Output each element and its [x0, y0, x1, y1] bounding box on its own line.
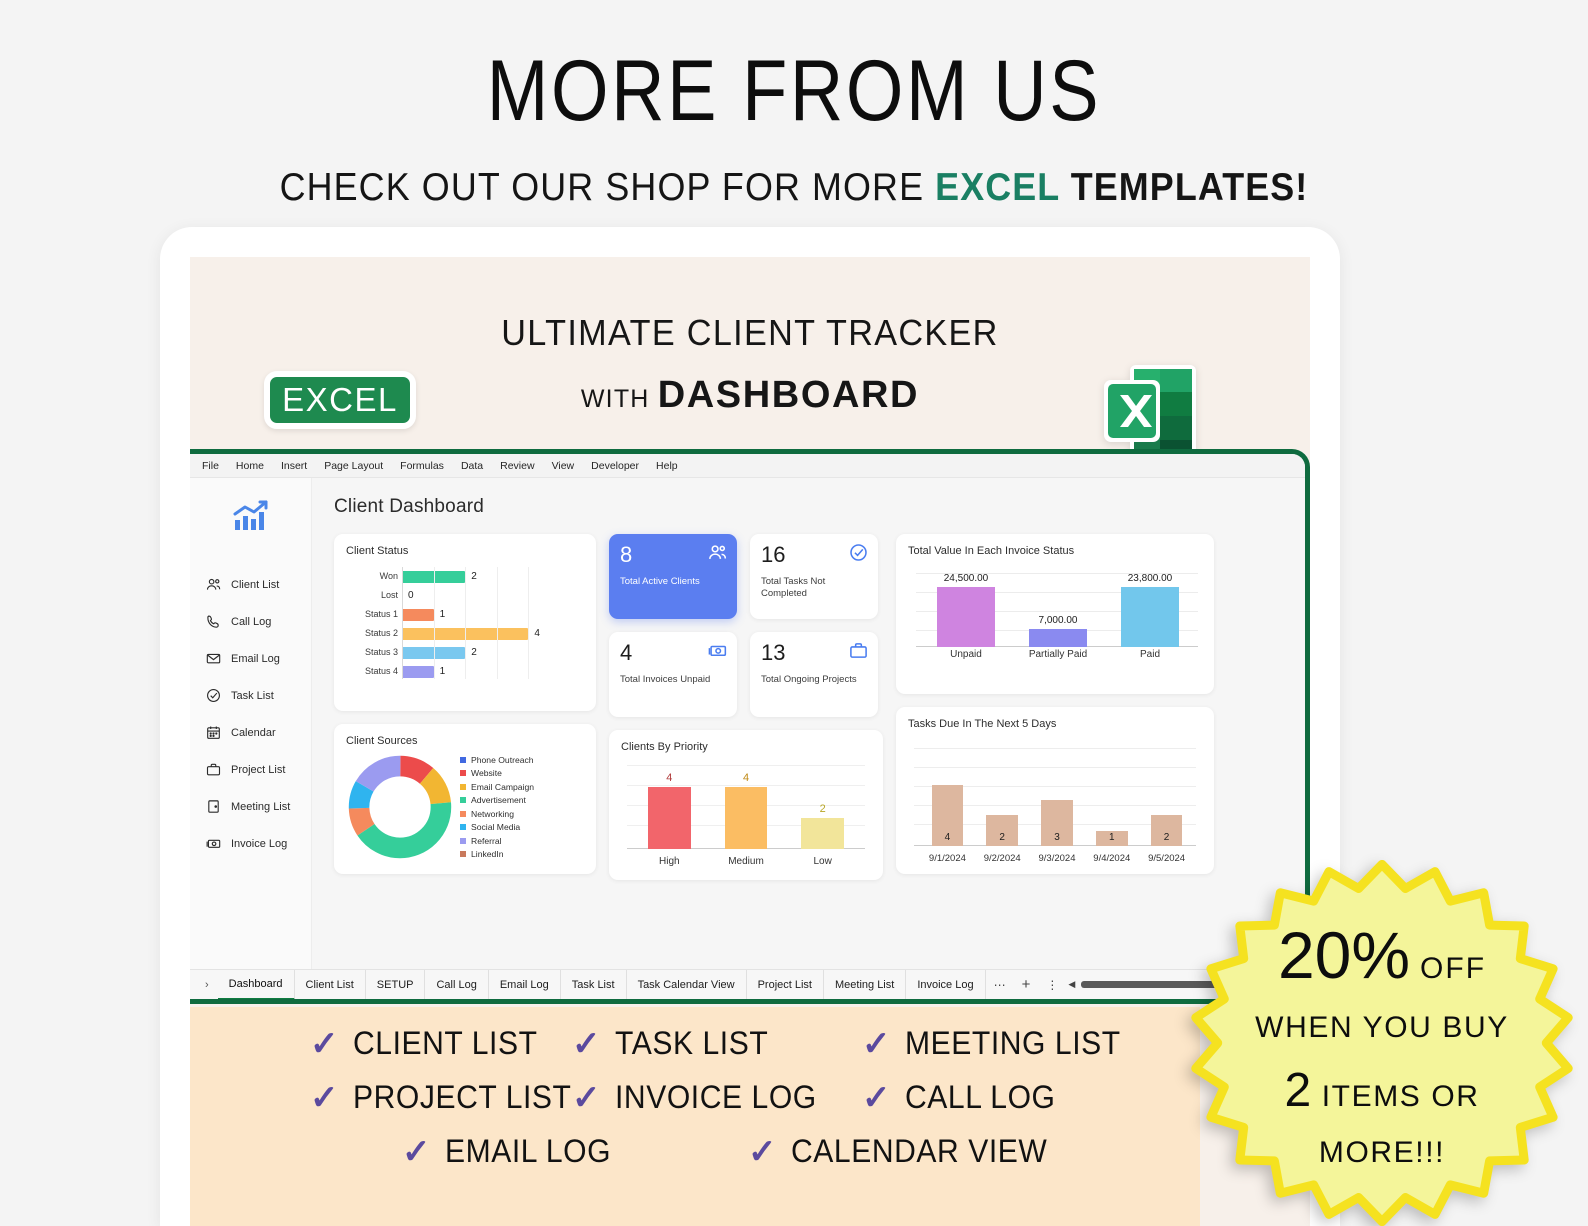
sheet-options-icon[interactable]: ⋮ — [1038, 978, 1066, 992]
task-bar-value: 2 — [1164, 832, 1170, 843]
chevron-right-icon[interactable]: › — [196, 979, 218, 991]
client-sources-chart: Phone OutreachWebsiteEmail CampaignAdver… — [346, 753, 584, 861]
invoice-bar-group: 24,500.00 — [920, 573, 1012, 647]
legend-label: Email Campaign — [471, 782, 534, 792]
legend-label: Website — [471, 768, 502, 778]
calendar-icon — [206, 725, 221, 740]
ribbon-item-developer[interactable]: Developer — [591, 460, 639, 472]
client-status-label: Lost — [346, 590, 398, 600]
tasks-due-chart: 423129/1/20249/2/20249/3/20249/4/20249/5… — [908, 748, 1202, 868]
invoice-status-chart: 24,500.007,000.0023,800.00UnpaidPartiall… — [908, 573, 1202, 665]
feature-meeting-list: ✓ MEETING LIST — [862, 1025, 1134, 1062]
task-bar-value: 3 — [1054, 832, 1060, 843]
dashboard-panel: Client Dashboard Client Status Won2Lost0… — [312, 478, 1305, 987]
task-bar-group: 2 — [975, 815, 1030, 846]
task-bar-label: 9/2/2024 — [975, 853, 1030, 864]
sidebar-item-invoice-log[interactable]: Invoice Log — [190, 825, 311, 862]
feature-task-list: ✓ TASK LIST — [572, 1025, 862, 1062]
invoice-status-card: Total Value In Each Invoice Status 24,50… — [896, 534, 1214, 694]
invoice-bar-group: 7,000.00 — [1012, 573, 1104, 647]
kpi-total-tasks-not-completed[interactable]: 16 Total Tasks Not Completed — [750, 534, 878, 619]
task-bar: 3 — [1041, 800, 1073, 846]
legend-swatch — [460, 824, 466, 830]
legend-swatch — [460, 797, 466, 803]
client-status-value: 1 — [440, 666, 446, 677]
product-title-line1: ULTIMATE CLIENT TRACKER — [218, 312, 1282, 354]
priority-bar-label: Low — [784, 856, 861, 867]
feature-call-log: ✓ CALL LOG — [862, 1079, 1065, 1116]
client-status-row: Won2 — [402, 567, 584, 586]
ribbon-item-data[interactable]: Data — [461, 460, 483, 472]
check-circle-icon — [206, 688, 221, 703]
legend-swatch — [460, 851, 466, 857]
priority-bar-value: 4 — [666, 772, 672, 784]
invoice-bar — [1029, 629, 1086, 648]
sheet-tab-project-list[interactable]: Project List — [747, 970, 824, 1000]
legend-label: Advertisement — [471, 795, 526, 805]
priority-bar-group: 4 — [631, 772, 708, 849]
feature-label: MEETING LIST — [905, 1025, 1121, 1062]
ribbon-item-help[interactable]: Help — [656, 460, 678, 472]
sidebar-label: Task List — [231, 690, 274, 702]
discount-badge — [1184, 860, 1580, 1226]
feature-label: CALL LOG — [905, 1079, 1056, 1116]
task-bar-group: 1 — [1084, 831, 1139, 846]
sheet-tabs: DashboardClient ListSETUPCall LogEmail L… — [218, 970, 986, 1000]
client-status-row: Lost0 — [402, 586, 584, 605]
invoice-bar-value: 23,800.00 — [1128, 573, 1173, 584]
subtitle-pre: CHECK OUT OUR SHOP FOR MORE — [280, 166, 936, 209]
task-bar: 2 — [986, 815, 1018, 846]
subtitle-post: TEMPLATES! — [1060, 166, 1309, 209]
invoice-bar — [937, 587, 994, 647]
money-icon — [206, 836, 221, 851]
client-status-value: 1 — [440, 609, 446, 620]
sidebar-item-call-log[interactable]: Call Log — [190, 603, 311, 640]
priority-bar-label: Medium — [708, 856, 785, 867]
ribbon-item-formulas[interactable]: Formulas — [400, 460, 444, 472]
check-mark-icon: ✓ — [310, 1027, 339, 1061]
scroll-left-icon[interactable]: ◀ — [1066, 979, 1077, 990]
feature-email-log: ✓ EMAIL LOG — [402, 1133, 748, 1170]
podium-icon — [206, 799, 221, 814]
feature-row-2: ✓ PROJECT LIST ✓ INVOICE LOG ✓ CALL LOG — [310, 1079, 1065, 1116]
kpi-label: Total Tasks Not Completed — [761, 576, 867, 600]
check-mark-icon: ✓ — [402, 1135, 431, 1169]
task-bar: 1 — [1096, 831, 1128, 846]
invoice-bar-label: Paid — [1104, 649, 1196, 665]
priority-bar — [801, 818, 844, 849]
sidebar-label: Calendar — [231, 727, 276, 739]
legend-item: LinkedIn — [460, 849, 534, 859]
task-bar-label: 9/1/2024 — [920, 853, 975, 864]
invoice-bar — [1121, 587, 1178, 647]
sheet-tab-task-list[interactable]: Task List — [561, 970, 627, 1000]
priority-bar — [648, 787, 691, 849]
feature-label: CLIENT LIST — [353, 1025, 538, 1062]
feature-row-1: ✓ CLIENT LIST ✓ TASK LIST ✓ MEETING LIST — [310, 1025, 1134, 1062]
feature-label: INVOICE LOG — [615, 1079, 817, 1116]
sheet-tab-dashboard[interactable]: Dashboard — [218, 970, 295, 1000]
sheet-tab-setup[interactable]: SETUP — [366, 970, 426, 1000]
sidebar-item-client-list[interactable]: Client List — [190, 566, 311, 603]
legend-swatch — [460, 811, 466, 817]
client-sources-card: Client Sources Phone OutreachWebsiteEmai… — [334, 724, 596, 874]
task-bar: 2 — [1151, 815, 1183, 846]
sidebar-label: Project List — [231, 764, 285, 776]
task-bar-group: 3 — [1030, 800, 1085, 846]
legend-label: Phone Outreach — [471, 755, 534, 765]
clients-by-priority-card: Clients By Priority 442HighMediumLow — [609, 730, 883, 880]
sheet-tab-email-log[interactable]: Email Log — [489, 970, 561, 1000]
client-status-label: Status 4 — [346, 666, 398, 676]
users-icon — [708, 543, 727, 567]
sidebar-item-meeting-list[interactable]: Meeting List — [190, 788, 311, 825]
task-bar-label: 9/4/2024 — [1084, 853, 1139, 864]
task-bar-value: 2 — [999, 832, 1005, 843]
priority-bar-value: 2 — [820, 803, 826, 815]
ribbon-menu[interactable]: File Home Insert Page Layout Formulas Da… — [190, 454, 1305, 478]
legend-label: Referral — [471, 836, 502, 846]
check-mark-icon: ✓ — [310, 1081, 339, 1115]
task-bar: 4 — [932, 785, 964, 846]
add-sheet-icon[interactable]: + — [1014, 976, 1039, 993]
sheet-tab-task-calendar-view[interactable]: Task Calendar View — [627, 970, 747, 1000]
clients-by-priority-title: Clients By Priority — [621, 741, 871, 753]
excel-badge: EXCEL — [264, 371, 416, 429]
briefcase-icon — [206, 762, 221, 777]
task-bar-value: 1 — [1109, 832, 1115, 843]
feature-calendar-view: ✓ CALENDAR VIEW — [748, 1133, 1063, 1170]
feature-row-3: ✓ EMAIL LOG ✓ CALENDAR VIEW — [402, 1133, 1063, 1170]
legend-label: LinkedIn — [471, 849, 504, 859]
task-bar-value: 4 — [945, 832, 951, 843]
client-status-chart: Won2Lost0Status 11Status 24Status 32Stat… — [346, 563, 584, 681]
sidebar-item-calendar[interactable]: Calendar — [190, 714, 311, 751]
envelope-icon — [206, 651, 221, 666]
sheet-tab-bar: › DashboardClient ListSETUPCall LogEmail… — [190, 969, 1305, 999]
client-status-label: Status 3 — [346, 647, 398, 657]
promo-page: MORE FROM US CHECK OUT OUR SHOP FOR MORE… — [0, 0, 1588, 1226]
ribbon-item-insert[interactable]: Insert — [281, 460, 307, 472]
client-status-row: Status 11 — [402, 605, 584, 624]
priority-bar — [725, 787, 768, 849]
donut-chart — [346, 753, 454, 861]
client-sources-title: Client Sources — [346, 735, 584, 747]
ribbon-item-home[interactable]: Home — [236, 460, 264, 472]
client-status-value: 2 — [471, 571, 477, 582]
briefcase-icon — [849, 641, 868, 665]
client-status-bar — [402, 666, 434, 678]
invoice-bar-label: Unpaid — [920, 649, 1012, 665]
client-sources-legend: Phone OutreachWebsiteEmail CampaignAdver… — [460, 755, 534, 860]
users-icon — [206, 577, 221, 592]
sidebar-logo — [190, 500, 311, 532]
kpi-total-ongoing-projects[interactable]: 13 Total Ongoing Projects — [750, 632, 878, 717]
product-title-dashboard: DASHBOARD — [658, 374, 919, 416]
legend-item: Referral — [460, 836, 534, 846]
feature-label: PROJECT LIST — [353, 1079, 571, 1116]
ribbon-item-file[interactable]: File — [202, 460, 219, 472]
client-status-label: Status 1 — [346, 609, 398, 619]
legend-label: Social Media — [471, 822, 520, 832]
sheet-tab-invoice-log[interactable]: Invoice Log — [906, 970, 985, 1000]
legend-label: Networking — [471, 809, 514, 819]
check-circle-icon — [849, 543, 868, 567]
priority-bar-group: 4 — [708, 772, 785, 849]
page-title: MORE FROM US — [111, 46, 1477, 136]
kpi-label: Total Active Clients — [620, 576, 726, 588]
sheet-tab-call-log[interactable]: Call Log — [425, 970, 488, 1000]
invoice-bar-group: 23,800.00 — [1104, 573, 1196, 647]
client-status-row: Status 24 — [402, 624, 584, 643]
legend-swatch — [460, 784, 466, 790]
tasks-due-card: Tasks Due In The Next 5 Days 423129/1/20… — [896, 707, 1214, 874]
sidebar-item-project-list[interactable]: Project List — [190, 751, 311, 788]
client-status-title: Client Status — [346, 545, 584, 557]
sheet-tab-client-list[interactable]: Client List — [295, 970, 366, 1000]
kpi-total-active-clients[interactable]: 8 Total Active Clients — [609, 534, 737, 619]
bar-chart-growth-icon — [233, 500, 269, 532]
legend-item: Email Campaign — [460, 782, 534, 792]
invoice-bar-value: 7,000.00 — [1039, 615, 1078, 626]
legend-item: Networking — [460, 809, 534, 819]
dashboard-sidebar: Client List Call Log — [190, 478, 312, 987]
task-bar-group: 2 — [1139, 815, 1194, 846]
client-status-value: 2 — [471, 647, 477, 658]
kpi-total-invoices-unpaid[interactable]: 4 Total Invoices Unpaid — [609, 632, 737, 717]
legend-item: Phone Outreach — [460, 755, 534, 765]
check-mark-icon: ✓ — [862, 1081, 891, 1115]
legend-swatch — [460, 757, 466, 763]
check-mark-icon: ✓ — [862, 1027, 891, 1061]
clients-by-priority-chart: 442HighMediumLow — [621, 765, 871, 869]
task-bar-label: 9/3/2024 — [1030, 853, 1085, 864]
donut-segment — [359, 766, 441, 848]
client-status-label: Won — [346, 571, 398, 581]
sheet-tab-meeting-list[interactable]: Meeting List — [824, 970, 906, 1000]
priority-bar-value: 4 — [743, 772, 749, 784]
legend-item: Advertisement — [460, 795, 534, 805]
feature-invoice-log: ✓ INVOICE LOG — [572, 1079, 862, 1116]
client-status-value: 0 — [408, 590, 414, 601]
feature-label: TASK LIST — [615, 1025, 768, 1062]
feature-project-list: ✓ PROJECT LIST — [310, 1079, 572, 1116]
client-status-row: Status 32 — [402, 643, 584, 662]
priority-bar-label: High — [631, 856, 708, 867]
client-status-card: Client Status Won2Lost0Status 11Status 2… — [334, 534, 596, 711]
sidebar-label: Call Log — [231, 616, 271, 628]
ribbon-item-review[interactable]: Review — [500, 460, 534, 472]
kpi-label: Total Ongoing Projects — [761, 674, 867, 686]
check-mark-icon: ✓ — [748, 1135, 777, 1169]
check-mark-icon: ✓ — [572, 1027, 601, 1061]
feature-client-list: ✓ CLIENT LIST — [310, 1025, 572, 1062]
invoice-bar-label: Partially Paid — [1012, 649, 1104, 665]
product-title-with: WITH — [581, 385, 658, 413]
sidebar-item-email-log[interactable]: Email Log — [190, 640, 311, 677]
phone-icon — [206, 614, 221, 629]
ribbon-item-view[interactable]: View — [552, 460, 575, 472]
invoice-status-title: Total Value In Each Invoice Status — [908, 545, 1202, 557]
legend-swatch — [460, 838, 466, 844]
page-subtitle: CHECK OUT OUR SHOP FOR MORE EXCEL TEMPLA… — [64, 166, 1525, 210]
more-tabs-icon[interactable]: ⋯ — [986, 978, 1014, 992]
task-bar-group: 4 — [920, 785, 975, 846]
client-status-label: Status 2 — [346, 628, 398, 638]
feature-label: CALENDAR VIEW — [791, 1133, 1047, 1170]
kpi-label: Total Invoices Unpaid — [620, 674, 726, 686]
legend-item: Social Media — [460, 822, 534, 832]
invoice-bar-value: 24,500.00 — [944, 573, 989, 584]
sidebar-label: Meeting List — [231, 801, 290, 813]
feature-label: EMAIL LOG — [445, 1133, 611, 1170]
dashboard-title: Client Dashboard — [334, 496, 1291, 518]
legend-swatch — [460, 770, 466, 776]
client-status-value: 4 — [534, 628, 540, 639]
client-status-bar — [402, 609, 434, 621]
priority-bar-group: 2 — [784, 803, 861, 849]
ribbon-item-page-layout[interactable]: Page Layout — [324, 460, 383, 472]
client-status-row: Status 41 — [402, 662, 584, 681]
money-icon — [708, 641, 727, 665]
subtitle-accent: EXCEL — [935, 166, 1060, 209]
sidebar-item-task-list[interactable]: Task List — [190, 677, 311, 714]
excel-window: File Home Insert Page Layout Formulas Da… — [190, 449, 1310, 1004]
check-mark-icon: ✓ — [572, 1081, 601, 1115]
feature-list-band: ✓ CLIENT LIST ✓ TASK LIST ✓ MEETING LIST… — [190, 1007, 1200, 1226]
sidebar-label: Client List — [231, 579, 279, 591]
tasks-due-title: Tasks Due In The Next 5 Days — [908, 718, 1202, 730]
legend-item: Website — [460, 768, 534, 778]
sidebar-label: Email Log — [231, 653, 280, 665]
sidebar-label: Invoice Log — [231, 838, 287, 850]
